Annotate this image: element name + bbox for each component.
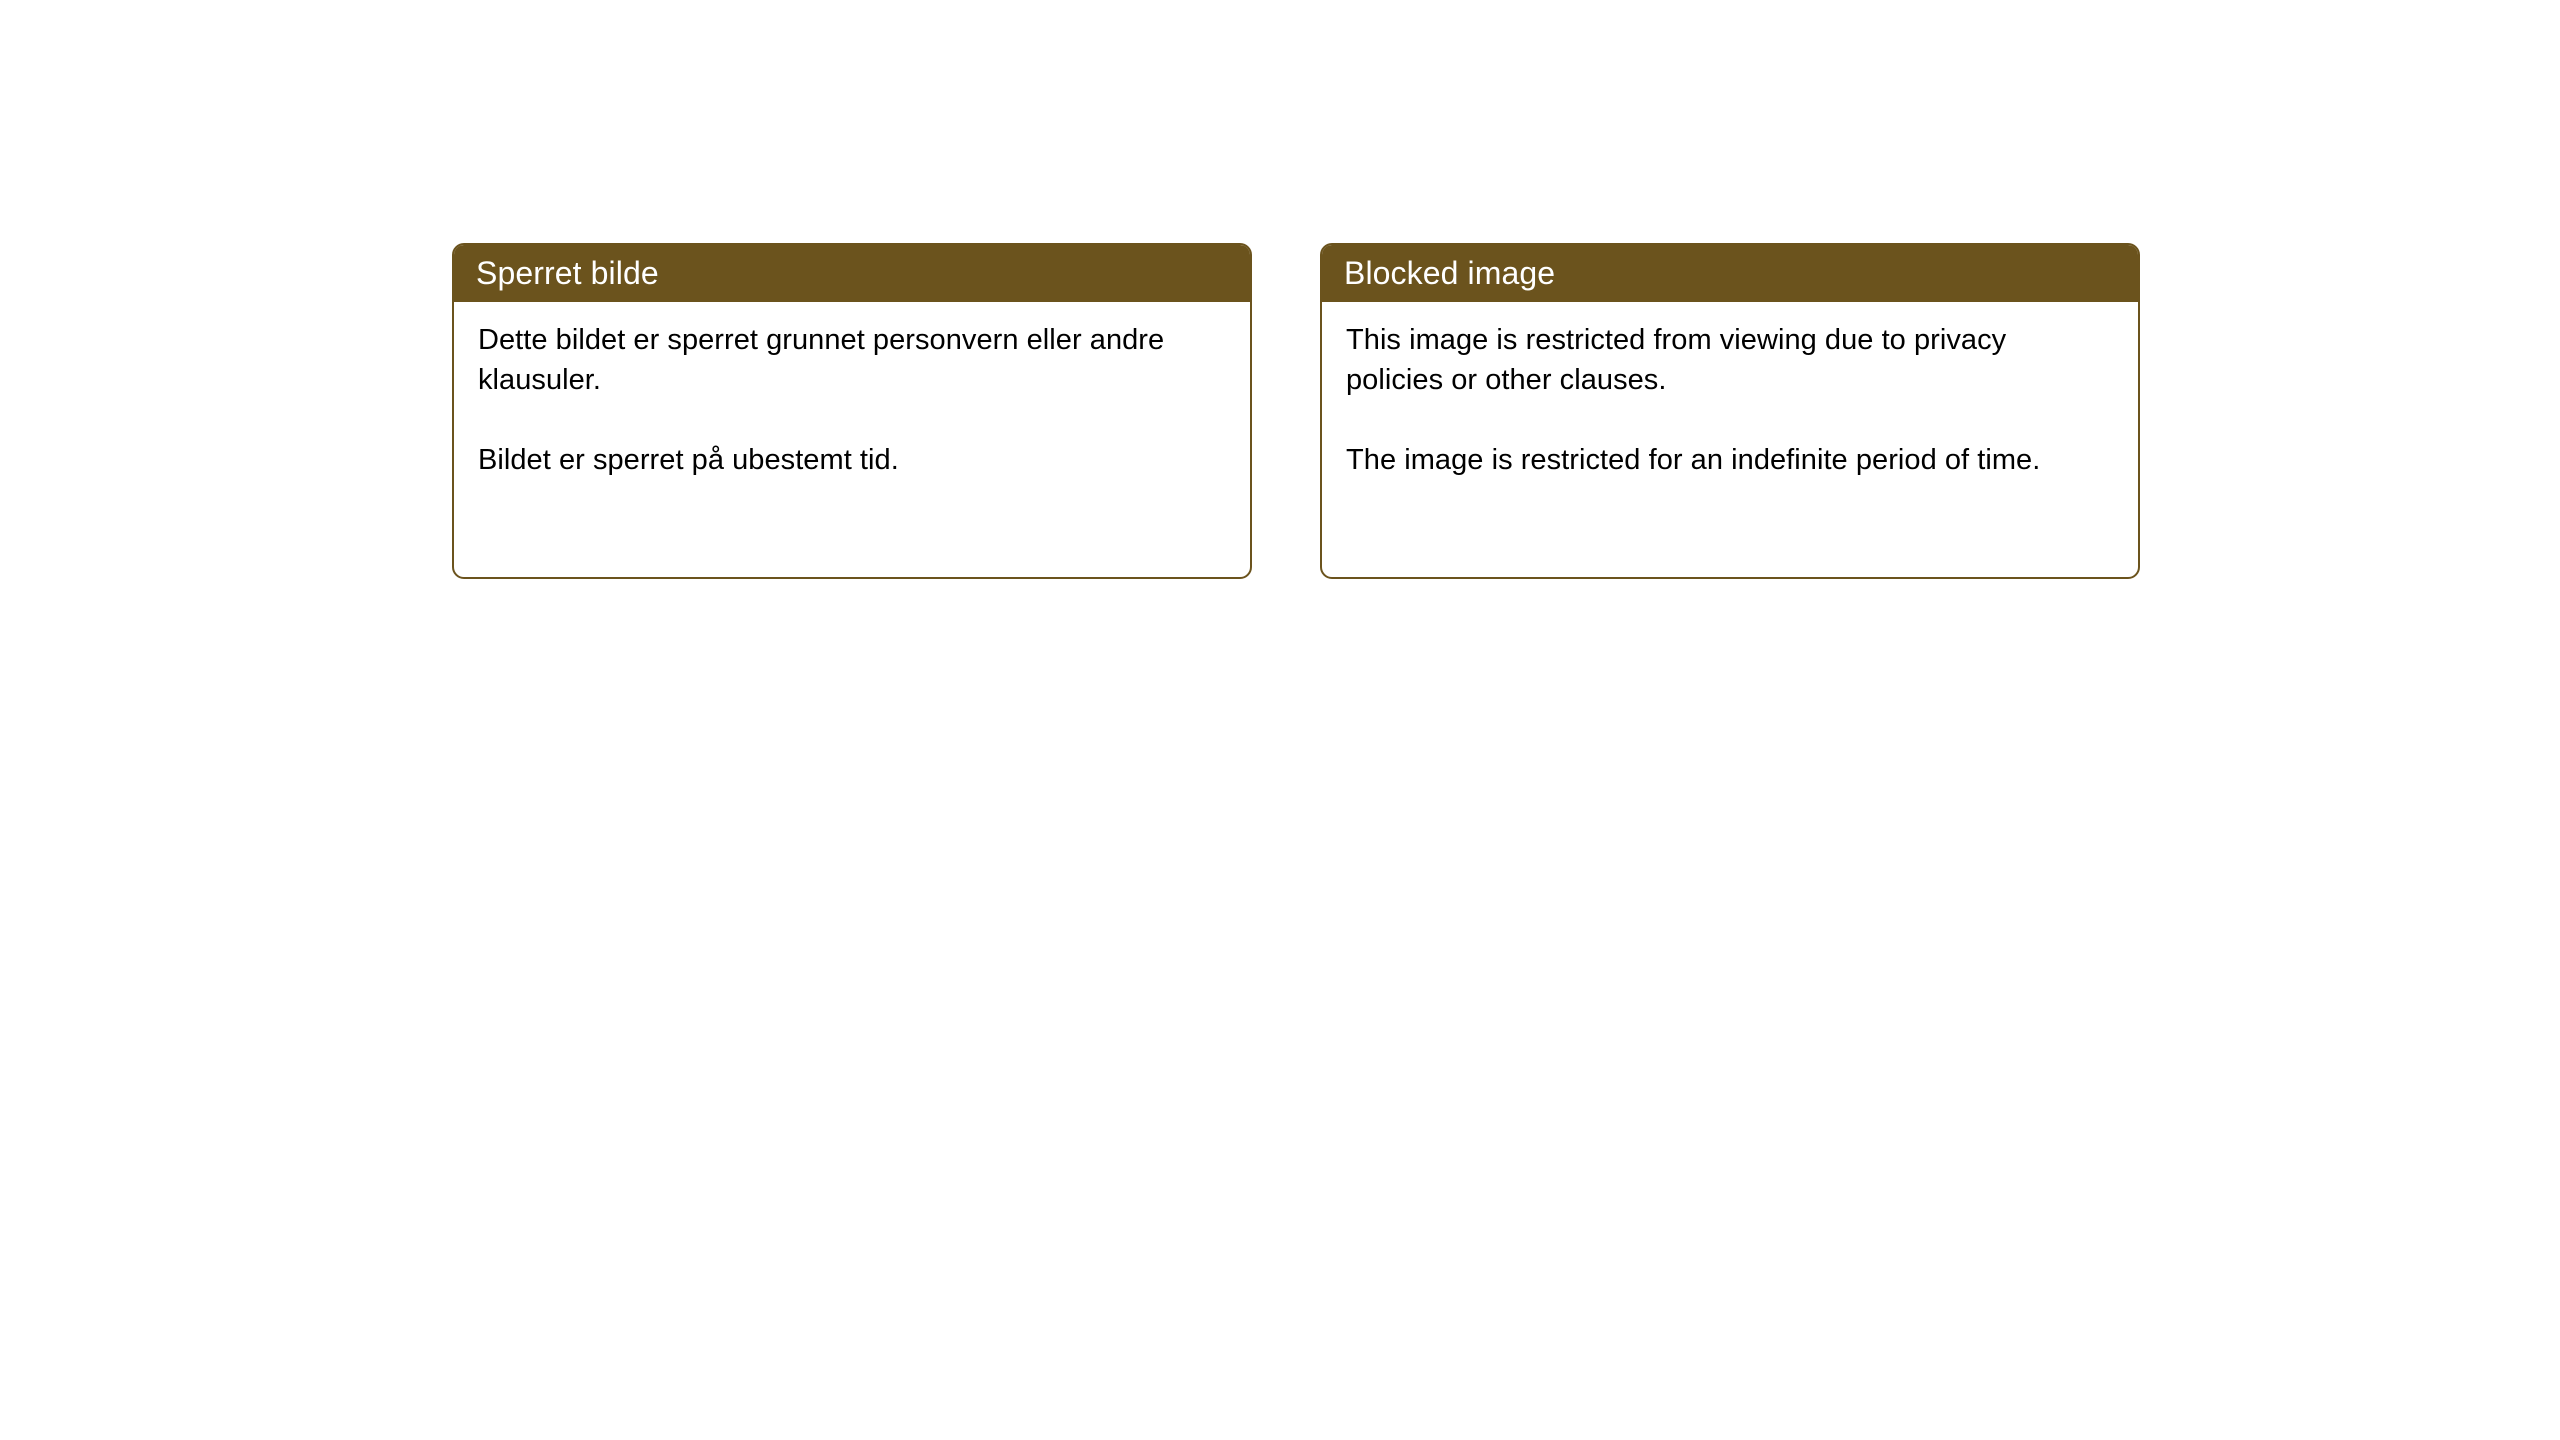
blocked-image-notice-group: Sperret bilde Dette bildet er sperret gr…	[452, 243, 2140, 579]
card-paragraph-reason-english: This image is restricted from viewing du…	[1346, 320, 2046, 400]
blocked-image-card-english: Blocked image This image is restricted f…	[1320, 243, 2140, 579]
card-paragraph-reason-norwegian: Dette bildet er sperret grunnet personve…	[478, 320, 1178, 400]
card-body-norwegian: Dette bildet er sperret grunnet personve…	[454, 302, 1250, 577]
blocked-image-card-norwegian: Sperret bilde Dette bildet er sperret gr…	[452, 243, 1252, 579]
card-title-english: Blocked image	[1322, 245, 2138, 302]
card-title-norwegian: Sperret bilde	[454, 245, 1250, 302]
card-paragraph-duration-norwegian: Bildet er sperret på ubestemt tid.	[478, 440, 1178, 480]
card-body-english: This image is restricted from viewing du…	[1322, 302, 2138, 577]
card-paragraph-duration-english: The image is restricted for an indefinit…	[1346, 440, 2046, 480]
